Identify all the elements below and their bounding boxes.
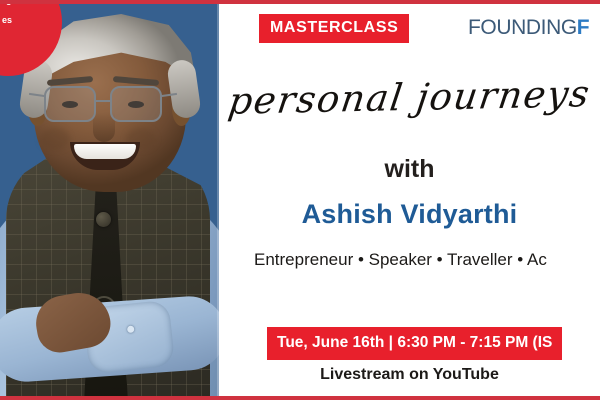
- logo-word-fuel: F: [577, 16, 589, 39]
- livestream-label: Livestream on YouTube: [219, 366, 600, 384]
- page-title-script: personal journeys: [215, 72, 600, 123]
- speaker-name: Ashish Vidyarthi: [219, 199, 600, 230]
- event-date-time-banner: Tue, June 16th | 6:30 PM - 7:15 PM (IS: [267, 327, 562, 360]
- cuff-button: [127, 325, 135, 333]
- header-row: MASTERCLASS FOUNDINGF: [219, 14, 600, 40]
- logo-word-founding: FOUNDING: [468, 16, 577, 39]
- eyeglass-lens-left: [44, 86, 96, 122]
- eyeglass-bridge: [96, 100, 112, 102]
- teeth-shape: [74, 144, 136, 159]
- speaker-roles: Entrepreneur • Speaker • Traveller • Ac: [254, 250, 547, 270]
- masterclass-badge: MASTERCLASS: [259, 14, 409, 43]
- cheek-left: [40, 128, 70, 150]
- bottom-border-rule: [0, 396, 600, 400]
- promo-badge-line-2: es: [2, 14, 60, 26]
- eyeglass-lens-right: [110, 86, 162, 122]
- top-border-rule: [0, 0, 600, 4]
- masterclass-poster: g a es MASTERCLASS FOUNDINGF personal jo…: [0, 0, 600, 400]
- content-panel: MASTERCLASS FOUNDINGF personal journeys …: [219, 0, 600, 400]
- founding-fuel-logo: FOUNDINGF: [468, 16, 589, 40]
- with-label: with: [219, 155, 600, 184]
- vest-button: [96, 212, 111, 227]
